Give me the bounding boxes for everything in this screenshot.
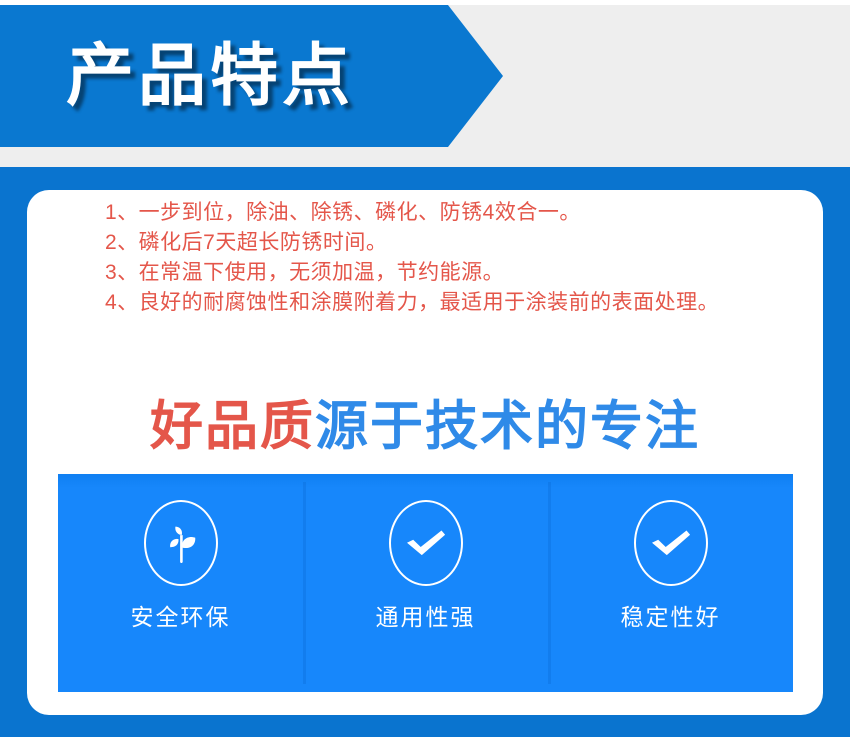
- feature-list-item: 4、良好的耐腐蚀性和涂膜附着力，最适用于涂装前的表面处理。: [105, 288, 815, 318]
- blue-body-section: 1、一步到位，除油、除锈、磷化、防锈4效合一。 2、磷化后7天超长防锈时间。 3…: [0, 167, 850, 737]
- product-features-page: 产品特点 1、一步到位，除油、除锈、磷化、防锈4效合一。 2、磷化后7天超长防锈…: [0, 0, 850, 737]
- plant-sprout-icon: [144, 500, 218, 586]
- highlight-item-safe-eco[interactable]: 安全环保: [58, 474, 303, 692]
- highlight-item-universal[interactable]: 通用性强: [303, 474, 548, 692]
- highlight-label: 通用性强: [376, 606, 476, 629]
- page-title: 产品特点: [66, 42, 354, 110]
- slogan-red-part: 好品质: [150, 397, 315, 456]
- feature-list-item: 2、磷化后7天超长防锈时间。: [105, 228, 815, 258]
- content-card: 1、一步到位，除油、除锈、磷化、防锈4效合一。 2、磷化后7天超长防锈时间。 3…: [27, 190, 823, 715]
- feature-list: 1、一步到位，除油、除锈、磷化、防锈4效合一。 2、磷化后7天超长防锈时间。 3…: [105, 198, 815, 318]
- highlight-panel: 安全环保 通用性强 稳定性好: [58, 474, 793, 692]
- check-mark-icon: [389, 500, 463, 586]
- slogan-headline: 好品质源于技术的专注: [27, 400, 823, 453]
- header-arrow-banner: 产品特点: [0, 5, 503, 147]
- slogan-blue-part: 源于技术的专注: [315, 397, 700, 456]
- feature-list-item: 3、在常温下使用，无须加温，节约能源。: [105, 258, 815, 288]
- highlight-label: 稳定性好: [621, 606, 721, 629]
- highlight-item-stable[interactable]: 稳定性好: [548, 474, 793, 692]
- feature-list-item: 1、一步到位，除油、除锈、磷化、防锈4效合一。: [105, 198, 815, 228]
- check-mark-icon: [634, 500, 708, 586]
- header-zone: 产品特点: [0, 0, 850, 167]
- highlight-label: 安全环保: [131, 606, 231, 629]
